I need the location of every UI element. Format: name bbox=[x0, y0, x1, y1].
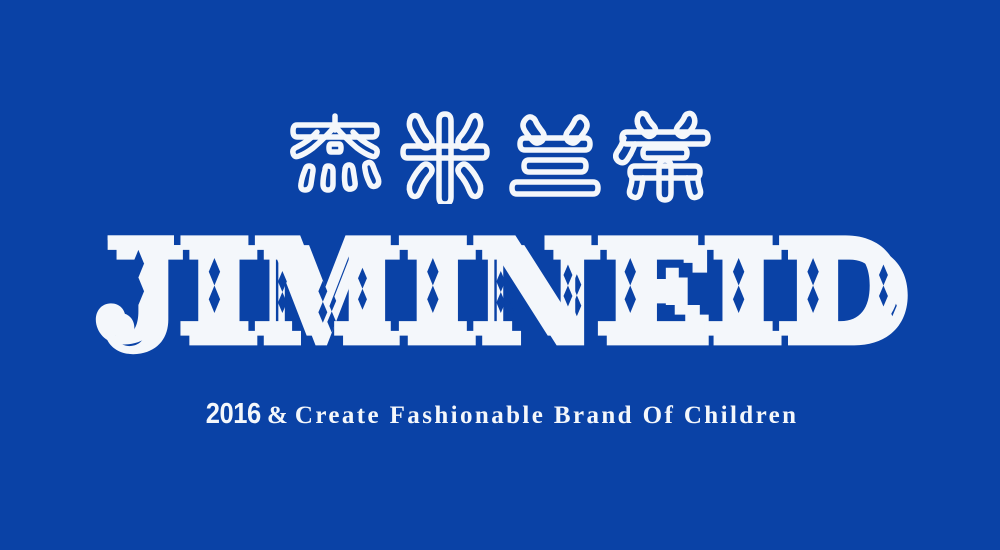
chinese-character-jie bbox=[283, 104, 387, 204]
tagline-year: 2016 bbox=[205, 400, 260, 429]
chinese-character-xi bbox=[613, 104, 717, 204]
wordmark-svg bbox=[85, 212, 915, 372]
tagline-ampersand: & bbox=[267, 403, 288, 428]
tagline-text: Create Fashionable Brand Of Children bbox=[295, 403, 799, 428]
chinese-character-lan bbox=[503, 104, 607, 204]
chinese-brand-name bbox=[0, 104, 1000, 204]
latin-wordmark bbox=[0, 212, 1000, 372]
chinese-character-mi bbox=[393, 104, 497, 204]
brand-tagline: 2016 & Create Fashionable Brand Of Child… bbox=[0, 400, 1000, 429]
brand-logo-canvas: 2016 & Create Fashionable Brand Of Child… bbox=[0, 0, 1000, 550]
